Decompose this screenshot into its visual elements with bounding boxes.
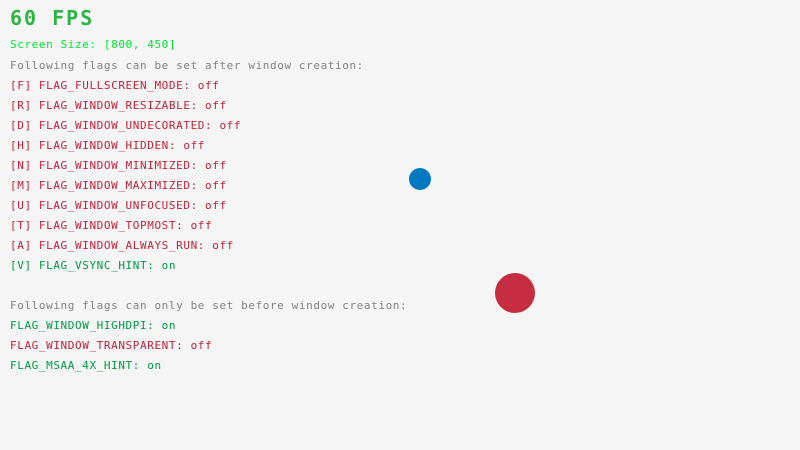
flag-row-window-unfocused[interactable]: [U] FLAG_WINDOW_UNFOCUSED: off bbox=[10, 200, 227, 211]
raylib-window-flags-canvas[interactable]: 60 FPS Screen Size: [800, 450] Following… bbox=[0, 0, 800, 450]
flag-row-vsync-hint[interactable]: [V] FLAG_VSYNC_HINT: on bbox=[10, 260, 176, 271]
small-blue-ball bbox=[409, 168, 431, 190]
flag-row-window-maximized[interactable]: [M] FLAG_WINDOW_MAXIMIZED: off bbox=[10, 180, 227, 191]
runtime-flags-heading: Following flags can be set after window … bbox=[10, 60, 364, 71]
creation-flags-heading: Following flags can only be set before w… bbox=[10, 300, 407, 311]
flag-row-window-resizable[interactable]: [R] FLAG_WINDOW_RESIZABLE: off bbox=[10, 100, 227, 111]
flag-row-window-highdpi: FLAG_WINDOW_HIGHDPI: on bbox=[10, 320, 176, 331]
large-red-ball bbox=[495, 273, 535, 313]
flag-row-window-transparent: FLAG_WINDOW_TRANSPARENT: off bbox=[10, 340, 212, 351]
flag-row-window-undecorated[interactable]: [D] FLAG_WINDOW_UNDECORATED: off bbox=[10, 120, 241, 131]
flag-row-window-topmost[interactable]: [T] FLAG_WINDOW_TOPMOST: off bbox=[10, 220, 212, 231]
screen-size-label: Screen Size: [800, 450] bbox=[10, 39, 176, 50]
flag-row-fullscreen-mode[interactable]: [F] FLAG_FULLSCREEN_MODE: off bbox=[10, 80, 219, 91]
flag-row-msaa-4x-hint: FLAG_MSAA_4X_HINT: on bbox=[10, 360, 162, 371]
fps-counter: 60 FPS bbox=[10, 8, 94, 28]
flag-row-window-minimized[interactable]: [N] FLAG_WINDOW_MINIMIZED: off bbox=[10, 160, 227, 171]
flag-row-window-hidden[interactable]: [H] FLAG_WINDOW_HIDDEN: off bbox=[10, 140, 205, 151]
flag-row-window-always-run[interactable]: [A] FLAG_WINDOW_ALWAYS_RUN: off bbox=[10, 240, 234, 251]
